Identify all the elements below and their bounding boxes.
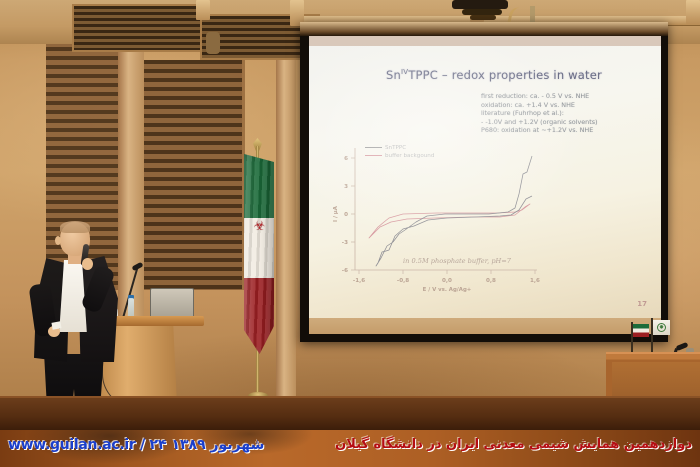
y-tick-label: 3 <box>344 184 348 190</box>
slide-title-prefix: Sn <box>386 68 401 82</box>
slide-notes-block: first reduction: ca. - 0.5 V vs. NHE oxi… <box>481 92 661 135</box>
ceiling-speaker-1 <box>452 0 508 9</box>
presenter-ear <box>55 236 61 245</box>
chart-svg: 6 3 0 -3 -6 -1,6 <box>325 142 545 292</box>
chart-legend: SnTPPC buffer backgound <box>365 144 434 160</box>
chart-y-axis-label: I / µA <box>333 205 339 222</box>
slide-note-line: P680: oxidation at ~+1.2V vs. NHE <box>481 126 661 135</box>
slide-page-number: 17 <box>637 300 647 308</box>
ceiling-hanger-1 <box>196 0 210 20</box>
slide-title-rest: TPPC – redox properties in water <box>408 68 602 82</box>
x-tick-label: 0,8 <box>486 278 496 284</box>
banner-url: www.guilan.ac.ir <box>8 437 136 453</box>
banner-url-and-date: www.guilan.ac.ir / ۲۴ شهریور ۱۳۸۹ <box>8 437 264 453</box>
flag-folds-shading <box>244 154 274 354</box>
x-tick-label: -1,6 <box>353 278 365 284</box>
wall-acoustic-panel-left <box>140 60 245 290</box>
slide-note-line: literature (Fuhrhop et al.): <box>481 109 661 118</box>
projection-screen-surface: SnIVTPPC – redox properties in water fir… <box>309 36 661 334</box>
projection-screen-roller <box>300 22 668 36</box>
ceiling-speaker-3 <box>470 15 496 20</box>
presenter-hand-right <box>82 258 93 270</box>
presentation-slide: SnIVTPPC – redox properties in water fir… <box>309 46 661 318</box>
bottom-caption-banner: www.guilan.ac.ir / ۲۴ شهریور ۱۳۸۹ دوازده… <box>0 430 700 467</box>
banner-date: ۲۴ شهریور ۱۳۸۹ <box>150 437 265 453</box>
legend-entry-buffer: buffer backgound <box>365 152 434 160</box>
legend-entry-sntppc: SnTPPC <box>365 144 434 152</box>
y-tick-labels: 6 3 0 -3 -6 <box>342 156 348 274</box>
legend-swatch-line-icon <box>365 147 382 148</box>
floor <box>0 396 700 430</box>
chart-annotation: in 0.5M phosphate buffer, pH=7 <box>403 257 511 265</box>
slide-note-line: first reduction: ca. - 0.5 V vs. NHE <box>481 92 661 101</box>
y-tick-label: -6 <box>342 268 348 274</box>
iran-flag: ☣ <box>236 140 280 420</box>
y-tick-label: 6 <box>344 156 348 162</box>
slide-note-line: oxidation: ca. +1.4 V vs. NHE <box>481 101 661 110</box>
ceiling-hanger-4 <box>686 0 700 24</box>
y-tick-label: 0 <box>344 212 348 218</box>
x-tick-marks <box>359 270 535 274</box>
presenter-hair <box>60 221 90 233</box>
x-tick-labels: -1,6 -0,8 0,0 0,8 1,6 <box>353 278 540 284</box>
series-buffer-background <box>369 204 530 238</box>
wall-mounted-sensor <box>206 32 220 54</box>
series-sntppc <box>376 156 532 266</box>
legend-label: buffer backgound <box>385 153 434 159</box>
desk-flag-iran <box>624 322 640 348</box>
legend-label: SnTPPC <box>385 145 406 151</box>
x-tick-label: -0,8 <box>397 278 409 284</box>
ceiling-vent-grille-left <box>72 4 204 52</box>
cyclic-voltammetry-chart: 6 3 0 -3 -6 -1,6 <box>325 142 545 292</box>
y-tick-marks <box>351 158 355 270</box>
y-tick-label: -3 <box>342 240 348 246</box>
chart-x-axis-label: E / V vs. Ag/Ag+ <box>423 287 472 292</box>
slide-title: SnIVTPPC – redox properties in water <box>359 68 629 82</box>
x-tick-label: 0,0 <box>442 278 452 284</box>
floor-wall-joint <box>0 396 700 398</box>
screen-lower-wall-area <box>309 318 661 334</box>
iran-emblem-icon: ☣ <box>253 218 266 234</box>
banner-conference-name: دوازدهمین همایش شیمی معدنی ایران در دانش… <box>335 437 692 452</box>
legend-swatch-line-icon <box>365 155 382 156</box>
x-tick-label: 1,6 <box>530 278 540 284</box>
conference-photo: SnIVTPPC – redox properties in water fir… <box>0 0 700 467</box>
laptop-screen <box>150 288 194 318</box>
desk-flag-university: ✸ <box>644 318 660 344</box>
university-logo-icon: ✸ <box>657 323 666 332</box>
banner-separator: / <box>140 437 145 453</box>
